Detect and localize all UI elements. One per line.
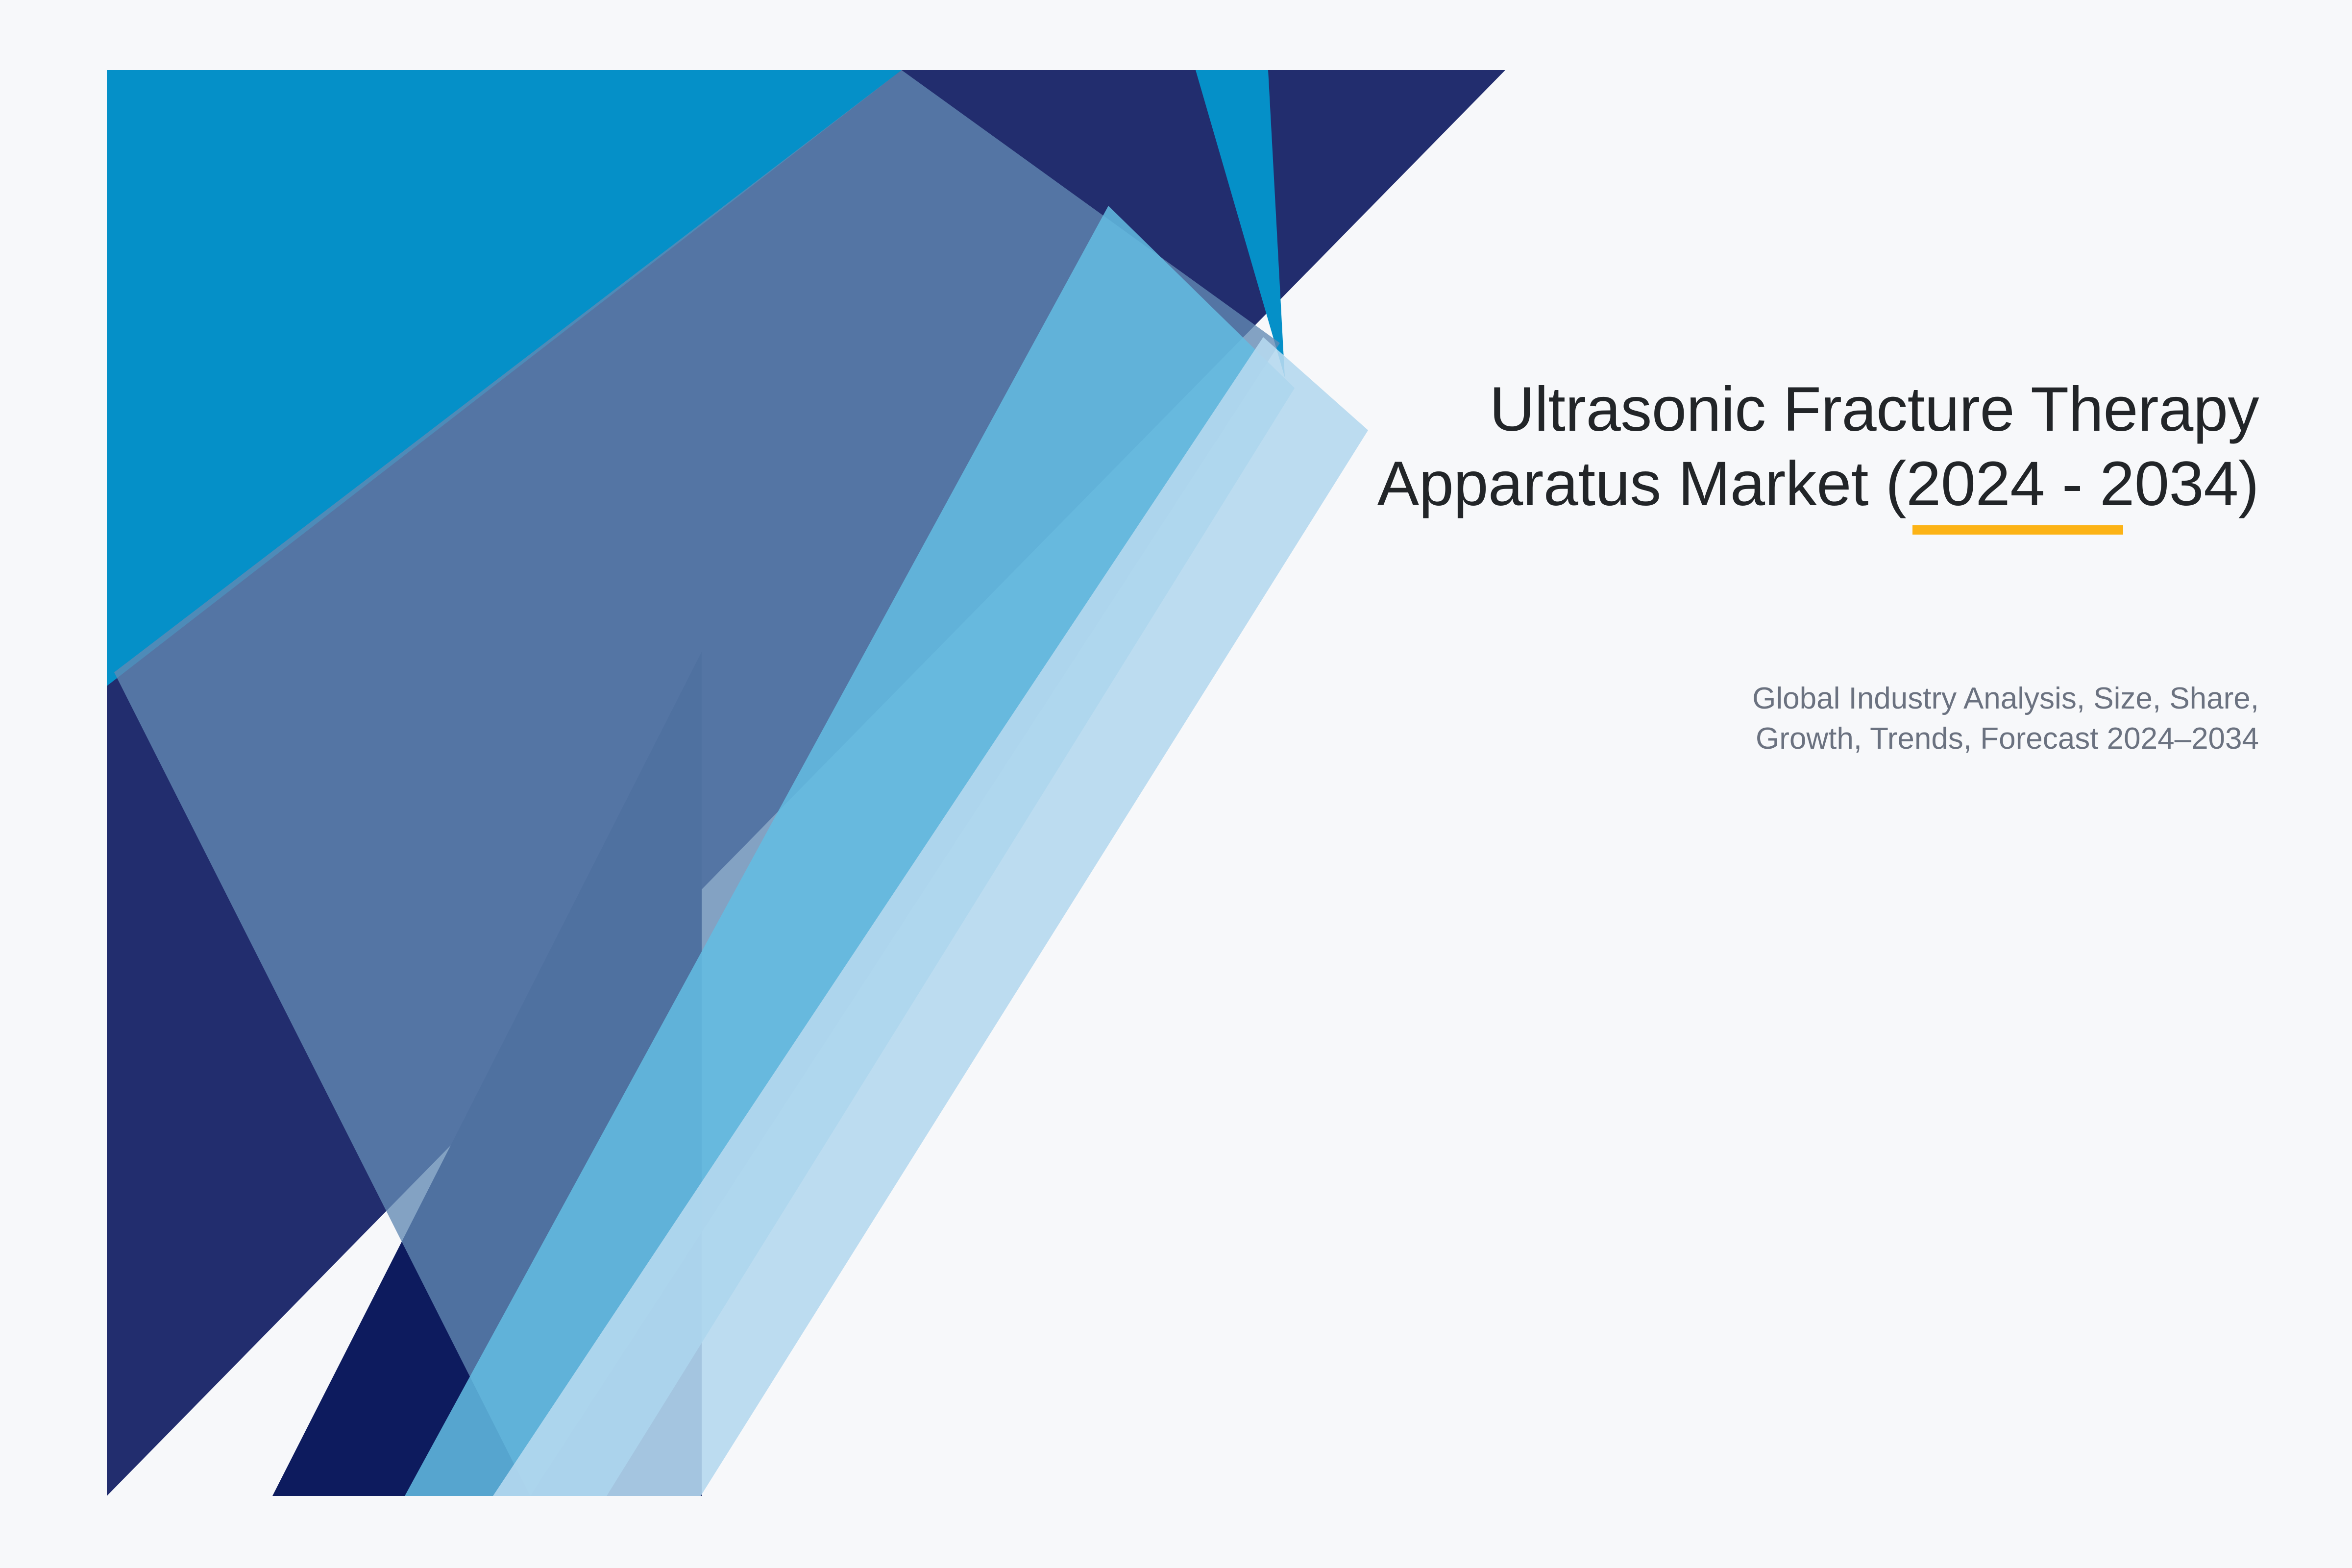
page-title-line-2: Apparatus Market (2024 - 2034) (1377, 449, 2259, 519)
cover-text-block: Ultrasonic Fracture TherapyApparatus Mar… (1068, 372, 2259, 522)
page-title-line-1: Ultrasonic Fracture Therapy (1490, 374, 2259, 444)
page-subtitle-line-2: Growth, Trends, Forecast 2024–2034 (1756, 722, 2259, 756)
page-title: Ultrasonic Fracture TherapyApparatus Mar… (1068, 372, 2259, 522)
page-subtitle-line-1: Global Industry Analysis, Size, Share, (1752, 682, 2259, 715)
title-underline-accent (1912, 525, 2123, 535)
report-cover-page: Ultrasonic Fracture TherapyApparatus Mar… (0, 0, 2352, 1568)
abstract-geometric-polygons (0, 0, 1568, 1568)
page-subtitle: Global Industry Analysis, Size, Share,Gr… (1068, 679, 2259, 759)
cover-artwork (0, 0, 1568, 1568)
